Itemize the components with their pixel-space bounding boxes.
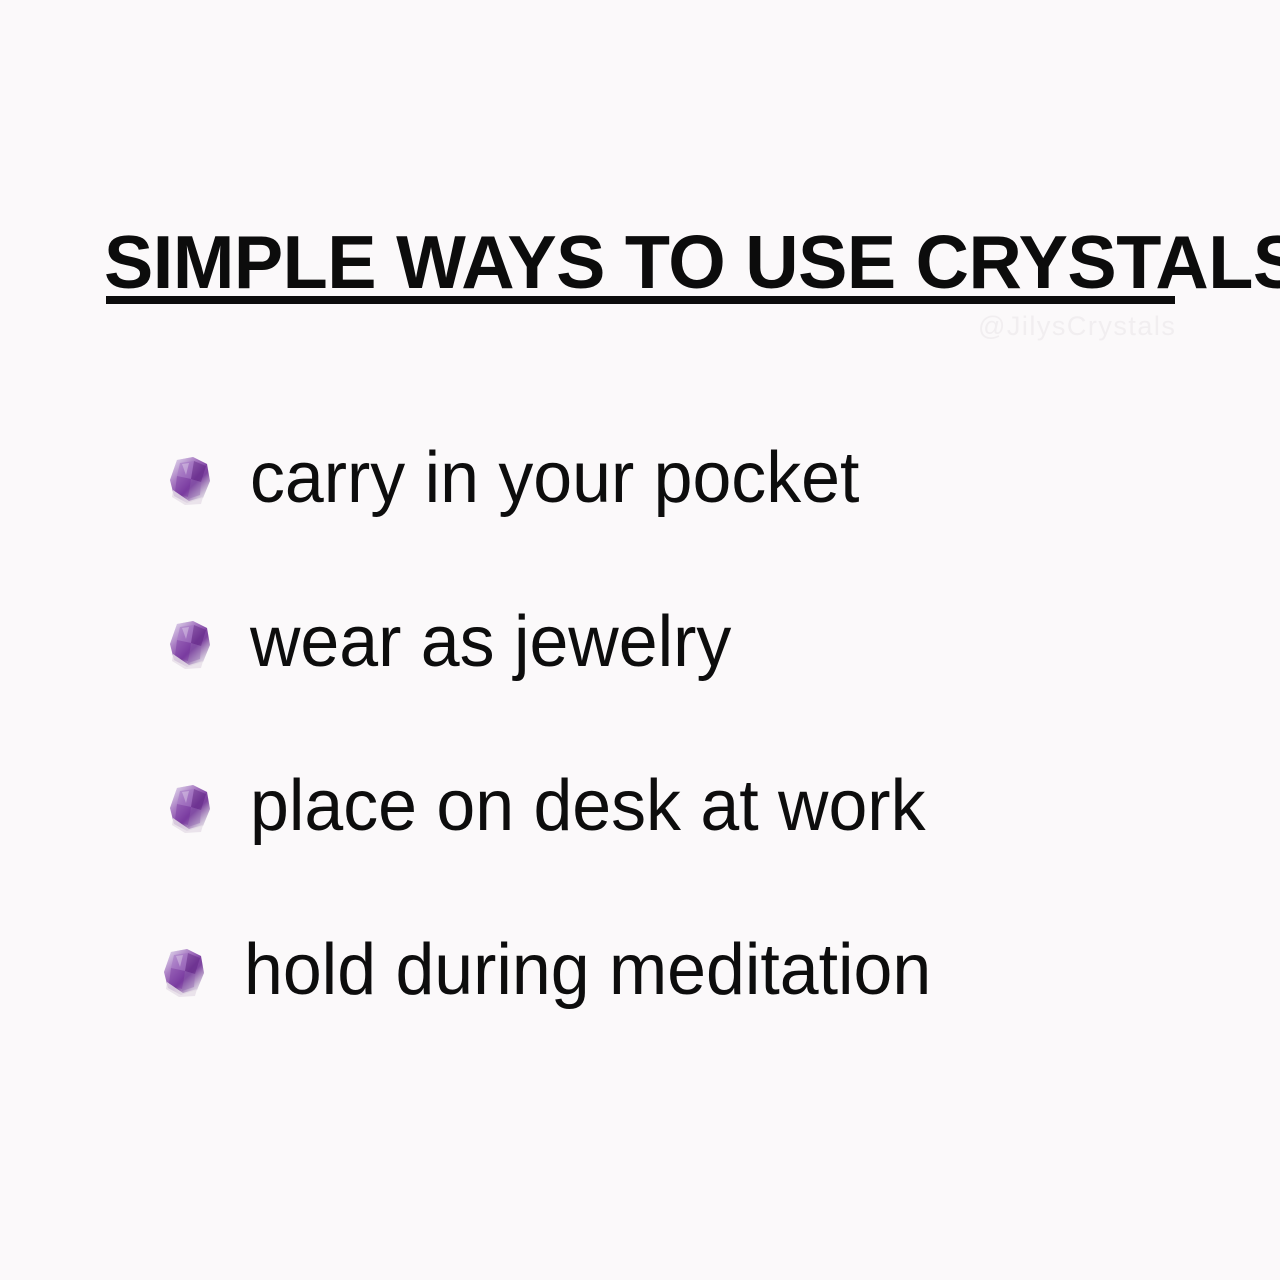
list-item-label: carry in your pocket [250, 439, 859, 517]
list-item: place on desk at work [160, 724, 1220, 888]
list-item: wear as jewelry [160, 560, 1220, 724]
bullet-wrap [160, 612, 220, 676]
title-underline [106, 296, 1175, 304]
crystal-uses-list: carry in your pocket [160, 396, 1220, 1052]
list-item-label: hold during meditation [244, 931, 931, 1009]
amethyst-crystal-icon [161, 946, 207, 998]
poster-canvas: SIMPLE WAYS TO USE CRYSTALS @JilysCrysta… [0, 0, 1280, 1280]
amethyst-crystal-icon [167, 454, 213, 506]
bullet-wrap [154, 940, 214, 1004]
title-block: SIMPLE WAYS TO USE CRYSTALS [104, 222, 1176, 302]
bullet-wrap [160, 448, 220, 512]
watermark-handle: @JilysCrystals [978, 310, 1176, 342]
bullet-wrap [160, 776, 220, 840]
list-item-label: place on desk at work [250, 767, 925, 845]
list-item-label: wear as jewelry [250, 603, 731, 681]
list-item: carry in your pocket [160, 396, 1220, 560]
page-title: SIMPLE WAYS TO USE CRYSTALS [104, 222, 1160, 302]
amethyst-crystal-icon [167, 618, 213, 670]
amethyst-crystal-icon [167, 782, 213, 834]
list-item: hold during meditation [160, 888, 1220, 1052]
